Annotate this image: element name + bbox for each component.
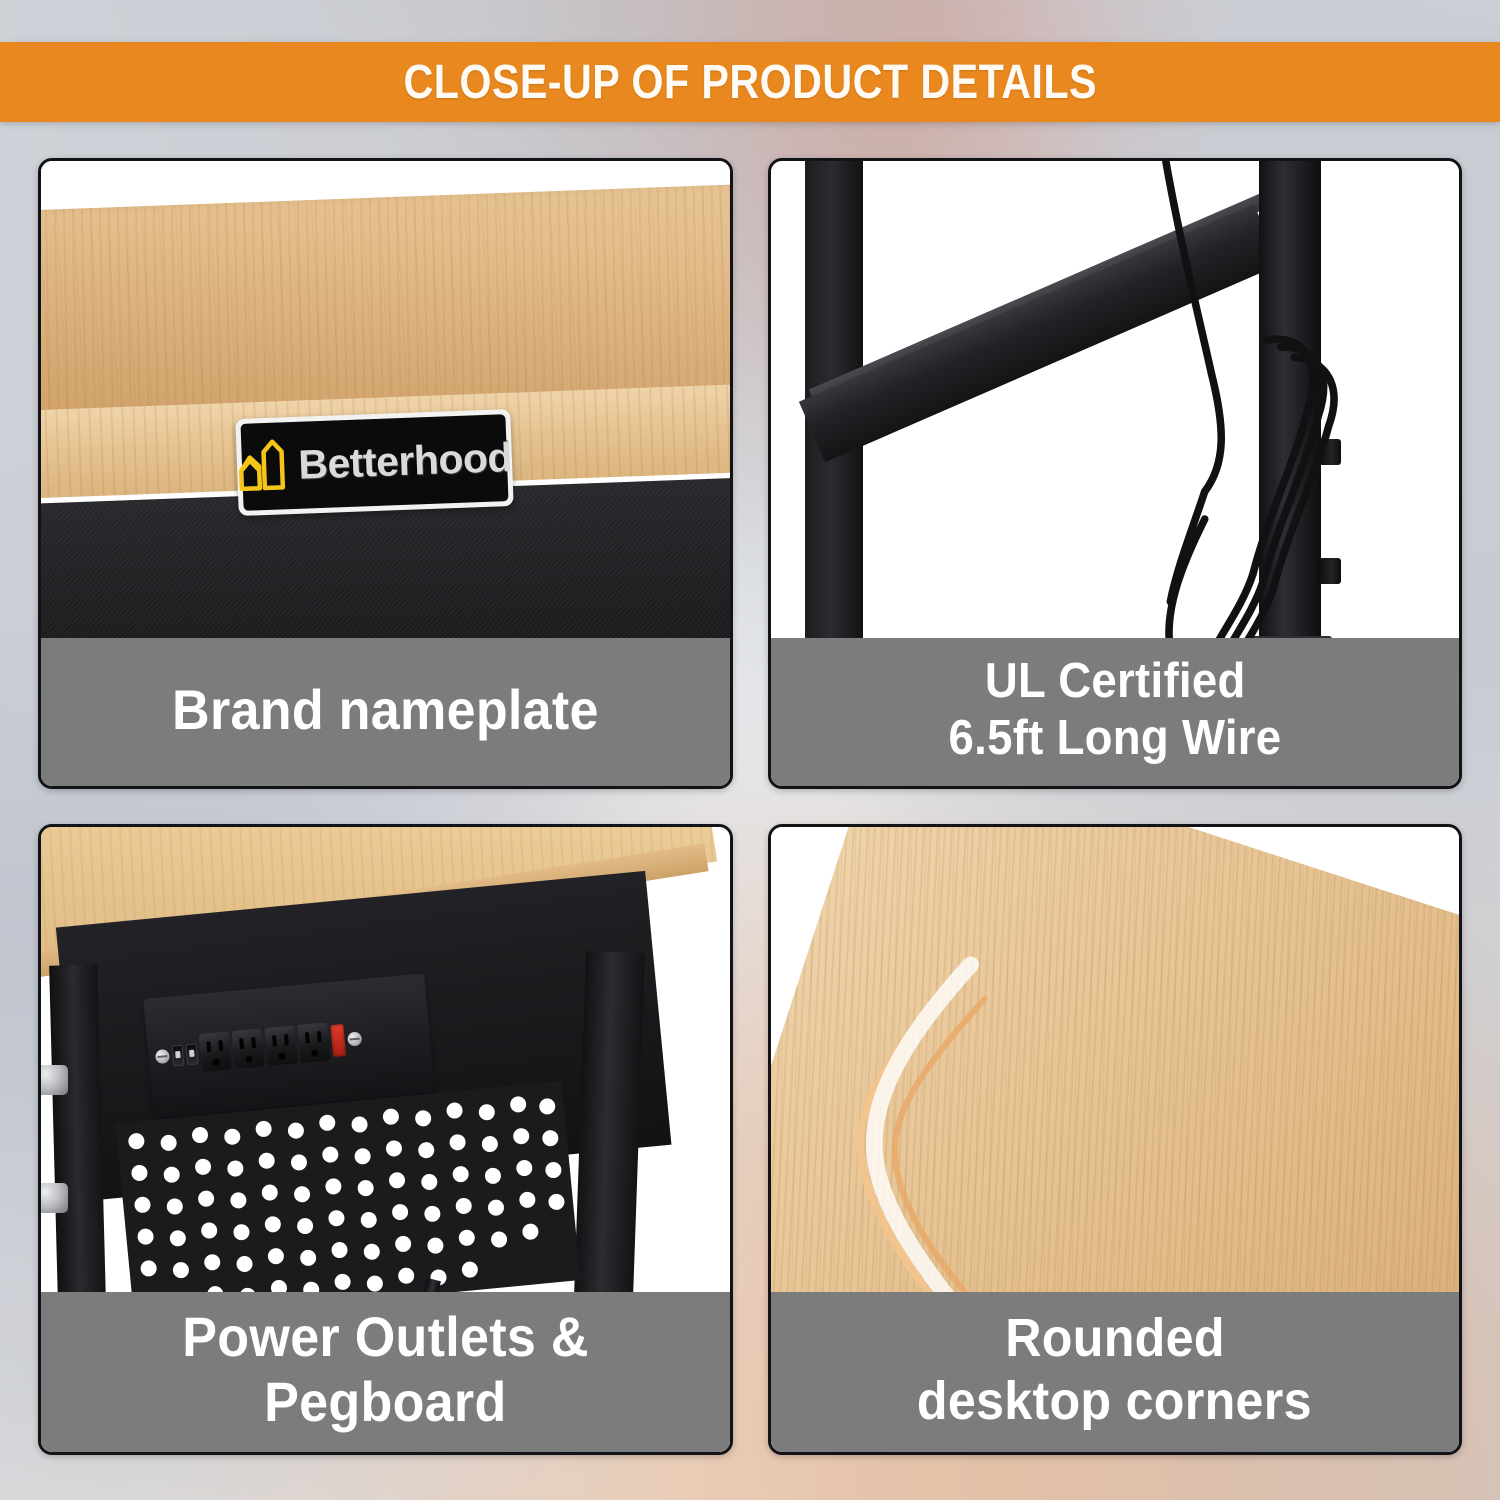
caption-power-outlets-pegboard: Power Outlets & Pegboard <box>41 1292 730 1452</box>
panel-ul-certified-wire[interactable]: UL Certified 6.5ft Long Wire <box>768 158 1463 789</box>
caption-ul-certified-wire: UL Certified 6.5ft Long Wire <box>771 638 1460 786</box>
mounting-screw-left <box>155 1050 170 1065</box>
panel-brand-nameplate[interactable]: Betterhood Brand nameplate <box>38 158 733 789</box>
page-title: CLOSE-UP OF PRODUCT DETAILS <box>403 55 1097 110</box>
caption-line-1: Brand nameplate <box>172 678 599 743</box>
brand-name-text: Betterhood <box>298 433 513 488</box>
pegboard-panel <box>115 1081 580 1323</box>
caption-line-1: Rounded <box>1005 1307 1225 1370</box>
panel-power-outlets-pegboard[interactable]: Power Outlets & Pegboard <box>38 824 733 1455</box>
ac-outlet-1[interactable] <box>198 1032 231 1073</box>
ac-outlet-4[interactable] <box>297 1023 330 1064</box>
usb-port-1[interactable] <box>171 1045 184 1067</box>
mounting-screw-right <box>347 1032 362 1047</box>
detail-panel-grid: Betterhood Brand nameplate <box>38 158 1462 1455</box>
caption-line-2: desktop corners <box>917 1370 1312 1433</box>
hex-bolt-upper <box>41 1065 68 1095</box>
usb-port-2[interactable] <box>185 1044 198 1066</box>
power-switch[interactable] <box>330 1025 346 1058</box>
hex-bolt-lower <box>41 1183 68 1213</box>
brand-nameplate-plate: Betterhood <box>236 408 515 515</box>
header-banner: CLOSE-UP OF PRODUCT DETAILS <box>0 42 1500 122</box>
caption-rounded-desktop-corners: Rounded desktop corners <box>771 1292 1460 1452</box>
ac-outlet-2[interactable] <box>231 1029 264 1070</box>
caption-line-2: Pegboard <box>264 1370 506 1435</box>
caption-line-1: Power Outlets & <box>182 1305 588 1370</box>
caption-line-1: UL Certified <box>984 653 1245 710</box>
panel-rounded-desktop-corners[interactable]: Rounded desktop corners <box>768 824 1463 1455</box>
caption-brand-nameplate: Brand nameplate <box>41 638 730 786</box>
ac-outlet-3[interactable] <box>264 1026 297 1067</box>
house-building-icon <box>237 435 293 498</box>
caption-line-2: 6.5ft Long Wire <box>948 710 1281 767</box>
